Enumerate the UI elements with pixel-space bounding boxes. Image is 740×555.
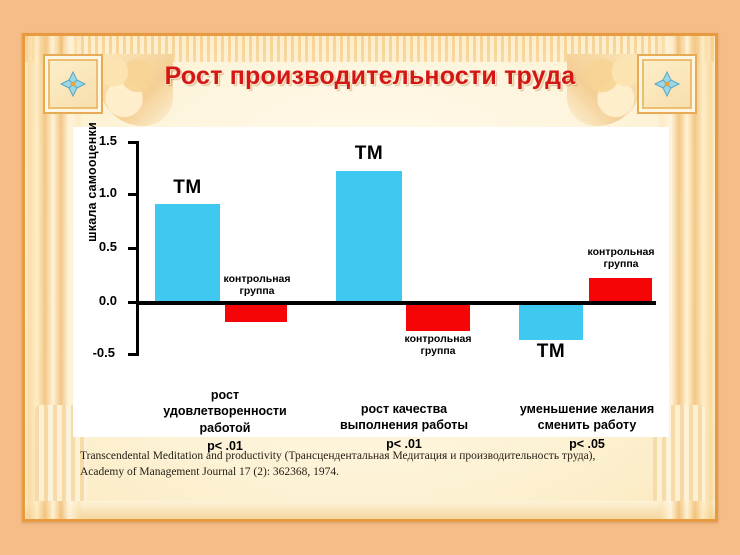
bar-label-tm-group-1: TM bbox=[155, 177, 220, 198]
category-text-3: уменьшение желания сменить работу bbox=[520, 402, 654, 433]
y-tick bbox=[128, 141, 139, 144]
bar-label-tm-group-2: TM bbox=[336, 143, 402, 164]
y-tick-label: 0.5 bbox=[73, 239, 117, 254]
page-title: Рост производительности труда bbox=[0, 62, 740, 91]
y-tick bbox=[128, 353, 139, 356]
y-tick-label: -0.5 bbox=[71, 345, 115, 360]
bar-tm-group-3[interactable] bbox=[519, 305, 583, 340]
bar-control-group-3[interactable] bbox=[589, 278, 652, 301]
bar-tm-group-1[interactable] bbox=[155, 204, 220, 301]
category-text-2: рост качества выполнения работы bbox=[340, 402, 468, 433]
bar-label-tm-group-3: TM bbox=[519, 341, 583, 362]
citation-text: Transcendental Meditation and productivi… bbox=[80, 448, 640, 481]
y-tick-label: 0.0 bbox=[73, 293, 117, 308]
y-tick-label: 1.0 bbox=[73, 185, 117, 200]
bar-label-control-group-2: контрольная группа bbox=[398, 334, 478, 358]
chart-panel: шкала самооценки 1.5 1.0 0.5 0.0 -0.5 TM… bbox=[73, 127, 669, 437]
bar-label-control-group-3: контрольная группа bbox=[581, 247, 661, 271]
y-tick-label: 1.5 bbox=[73, 133, 117, 148]
bar-label-control-group-1: контрольная группа bbox=[217, 274, 297, 298]
category-text-1: рост удовлетворенности работой bbox=[163, 388, 287, 435]
bottom-ornament-band bbox=[25, 501, 718, 519]
bar-control-group-2[interactable] bbox=[406, 305, 470, 331]
y-tick bbox=[128, 247, 139, 250]
bar-tm-group-2[interactable] bbox=[336, 171, 402, 301]
slide-stage: Рост производительности труда шкала само… bbox=[0, 0, 740, 555]
y-tick bbox=[128, 193, 139, 196]
bar-control-group-1[interactable] bbox=[225, 305, 287, 322]
